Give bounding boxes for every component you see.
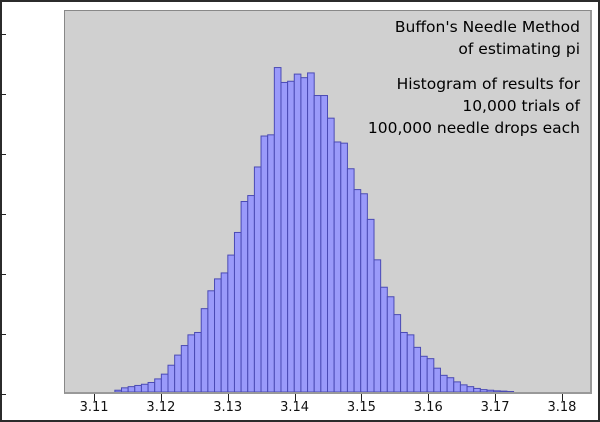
x-tick-label: 3.14 [280, 400, 309, 415]
histogram-bar [367, 219, 374, 392]
histogram-bar [121, 388, 128, 392]
histogram-bar [381, 287, 388, 392]
histogram-bar [374, 260, 381, 392]
x-tick-mark [295, 394, 296, 401]
histogram-bar [208, 291, 215, 392]
histogram-bar [221, 273, 228, 392]
y-tick-mark [0, 214, 6, 215]
x-tick-label: 3.12 [146, 400, 175, 415]
histogram-bar [474, 388, 481, 392]
histogram-bar [215, 279, 222, 392]
histogram-bar [161, 374, 168, 392]
annotation-spacer [368, 60, 580, 73]
histogram-bar [401, 332, 408, 392]
x-tick-mark [361, 394, 362, 401]
histogram-bar [354, 190, 361, 392]
x-tick-label: 3.16 [414, 400, 443, 415]
x-tick-mark [428, 394, 429, 401]
histogram-bar [181, 346, 188, 392]
figure-container: 0100000200000300000400000500000600000 3.… [0, 0, 600, 422]
histogram-bar [347, 169, 354, 392]
histogram-bar [175, 355, 182, 392]
histogram-bar [228, 255, 235, 392]
histogram-bar [168, 365, 175, 392]
histogram-bar [141, 384, 148, 392]
histogram-bar [487, 390, 494, 392]
histogram-bar [241, 202, 248, 393]
x-tick-label: 3.13 [213, 400, 242, 415]
histogram-bar [268, 135, 275, 392]
histogram-bar [314, 96, 321, 392]
annotation-line-1: Buffon's Needle Method [368, 16, 580, 38]
histogram-bar [281, 82, 288, 392]
histogram-bar [480, 390, 487, 392]
histogram-bar [328, 118, 335, 392]
histogram-bar [467, 387, 474, 392]
x-tick-label: 3.11 [80, 400, 109, 415]
histogram-bar [494, 391, 501, 392]
y-tick-mark [0, 34, 6, 35]
histogram-bar [341, 143, 348, 392]
y-tick-mark [0, 394, 6, 395]
histogram-bar [294, 74, 301, 392]
histogram-bar [128, 387, 135, 392]
annotation-line-5: 100,000 needle drops each [368, 117, 580, 139]
x-tick-mark [495, 394, 496, 401]
x-tick-mark [228, 394, 229, 401]
histogram-bar [334, 142, 341, 392]
histogram-bar [407, 335, 414, 392]
x-tick-label: 3.15 [347, 400, 376, 415]
y-tick-mark [0, 154, 6, 155]
histogram-bar [308, 73, 315, 392]
chart-annotation: Buffon's Needle Method of estimating pi … [368, 16, 580, 139]
histogram-bar [440, 375, 447, 392]
histogram-bar [201, 309, 208, 392]
histogram-bar [434, 368, 441, 392]
histogram-bar [427, 359, 434, 392]
histogram-bar [301, 78, 308, 392]
histogram-bar [148, 382, 155, 392]
x-tick-mark [562, 394, 563, 401]
y-tick-mark [0, 274, 6, 275]
histogram-bar [361, 194, 368, 392]
histogram-bar [447, 378, 454, 392]
histogram-bar [234, 232, 241, 392]
histogram-bar [135, 385, 142, 392]
x-tick-label: 3.18 [547, 400, 576, 415]
annotation-line-3: Histogram of results for [368, 73, 580, 95]
histogram-bar [274, 68, 281, 392]
histogram-bar [288, 81, 295, 392]
histogram-bar [460, 385, 467, 392]
histogram-bar [421, 356, 428, 392]
histogram-bar [195, 332, 202, 392]
histogram-bar [500, 391, 507, 392]
histogram-bar [155, 379, 162, 392]
histogram-bar [387, 297, 394, 392]
x-tick-label: 3.17 [481, 400, 510, 415]
histogram-bar [254, 167, 261, 392]
histogram-bar [414, 347, 421, 392]
histogram-bar [261, 136, 268, 392]
x-tick-mark [94, 394, 95, 401]
annotation-line-4: 10,000 trials of [368, 95, 580, 117]
histogram-bar [321, 96, 328, 392]
annotation-line-2: of estimating pi [368, 38, 580, 60]
histogram-bar [248, 196, 255, 392]
y-tick-mark [0, 94, 6, 95]
histogram-bar [115, 390, 122, 392]
y-tick-mark [0, 334, 6, 335]
histogram-bar [454, 382, 461, 392]
histogram-bar [394, 315, 401, 392]
histogram-bar [188, 335, 195, 392]
x-tick-mark [161, 394, 162, 401]
